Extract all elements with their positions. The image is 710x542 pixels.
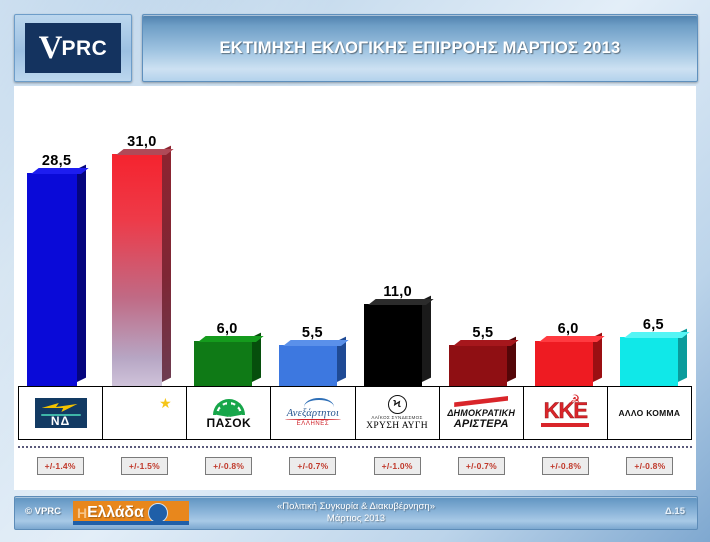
vprc-logo-prc: PRC	[62, 38, 108, 59]
bar-top	[368, 299, 434, 305]
anel-label-sub: ΕΛΛΗΝΕΣ	[297, 421, 330, 427]
margin-of-error-cell: +/-0.7%	[271, 454, 355, 478]
bar-3d	[449, 345, 507, 386]
bar-3d	[620, 337, 678, 386]
bar-face	[279, 345, 337, 386]
bar-3d	[27, 173, 77, 386]
page-title: ΕΚΤΙΜΗΣΗ ΕΚΛΟΓΙΚΗΣ ΕΠΙΡΡΟΗΣ ΜΑΡΤΙΟΣ 2013	[220, 39, 621, 58]
kke-label: ΚΚΕ	[544, 400, 587, 422]
axis-cell-anel: Ανεξάρτητοι ΕΛΛΗΝΕΣ	[271, 387, 355, 439]
bar-column: 6,0	[526, 86, 611, 386]
dimar-arrow-icon	[454, 396, 508, 407]
vprc-logo-v: V	[39, 32, 62, 65]
bar-3d	[112, 154, 162, 386]
dimar-label-bottom: ΑΡΙΣΤΕΡΑ	[454, 418, 509, 430]
bar-chart: 28,531,06,05,511,05,56,06,5	[14, 86, 696, 386]
margin-of-error-badge: +/-0.7%	[289, 457, 336, 475]
logo-pasok: ΠΑΣΟΚ	[206, 396, 252, 430]
axis-cell-xa: Ϟ ΛΑΪΚΟΣ ΣΥΝΔΕΣΜΟΣ ΧΡΥΣΗ ΑΥΓΗ	[356, 387, 440, 439]
bar-column: 5,5	[270, 86, 355, 386]
bar-face	[535, 341, 593, 386]
content-panel: 28,531,06,05,511,05,56,06,5 ΝΔ ★	[14, 86, 696, 490]
bar-top	[539, 336, 605, 342]
margin-of-error-badge: +/-1.5%	[121, 457, 168, 475]
margin-of-error-cell: +/-0.7%	[439, 454, 523, 478]
margin-of-error-badge: +/-0.8%	[626, 457, 673, 475]
margin-of-error-cell: +/-1.5%	[102, 454, 186, 478]
bar-value-label: 11,0	[383, 284, 412, 300]
bar-3d	[194, 341, 252, 386]
bar-top	[624, 332, 690, 338]
margin-of-error-badge: +/-0.8%	[205, 457, 252, 475]
logo-syriza: ★	[114, 397, 176, 429]
allo-komma-label: ΑΛΛΟ ΚΟΜΜΑ	[618, 408, 680, 418]
margin-of-error-badge: +/-1.4%	[37, 457, 84, 475]
bar-face	[27, 173, 77, 386]
bar-top	[283, 340, 349, 346]
bar-3d	[364, 304, 422, 386]
anel-rule-icon	[285, 419, 341, 420]
hammer-sickle-icon: ☭	[569, 393, 581, 406]
bar-top	[31, 168, 89, 174]
bar-face	[449, 345, 507, 386]
margin-of-error-badge: +/-1.0%	[374, 457, 421, 475]
anel-label-top: Ανεξάρτητοι	[287, 408, 339, 419]
margin-of-error-cell: +/-0.8%	[187, 454, 271, 478]
bar-value-label: 28,5	[42, 153, 71, 169]
footer-line-2: Μάρτιος 2013	[15, 513, 697, 525]
bar-top	[453, 340, 519, 346]
margin-of-error-badge: +/-0.8%	[542, 457, 589, 475]
logo-nd: ΝΔ	[35, 398, 87, 428]
bar-side	[162, 146, 171, 382]
bar-top	[116, 149, 174, 155]
slide-header: VPRC ΕΚΤΙΜΗΣΗ ΕΚΛΟΓΙΚΗΣ ΕΠΙΡΡΟΗΣ ΜΑΡΤΙΟΣ…	[14, 14, 696, 80]
margin-of-error-cell: +/-0.8%	[608, 454, 692, 478]
xa-label-main: ΧΡΥΣΗ ΑΥΓΗ	[366, 421, 428, 431]
bar-column: 5,5	[440, 86, 525, 386]
bar-column: 11,0	[355, 86, 440, 386]
pasok-sun-icon	[206, 396, 252, 415]
axis-cell-dimar: ΔΗΜΟΚΡΑΤΙΚΗ ΑΡΙΣΤΕΡΑ	[440, 387, 524, 439]
slide: VPRC ΕΚΤΙΜΗΣΗ ΕΚΛΟΓΙΚΗΣ ΕΠΙΡΡΟΗΣ ΜΑΡΤΙΟΣ…	[0, 0, 710, 542]
axis-cell-nd: ΝΔ	[19, 387, 103, 439]
nd-flash-icon	[42, 403, 78, 412]
bar-column: 28,5	[14, 86, 99, 386]
logo-anel: Ανεξάρτητοι ΕΛΛΗΝΕΣ	[285, 399, 341, 427]
logo-xrysi-avgi: Ϟ ΛΑΪΚΟΣ ΣΥΝΔΕΣΜΟΣ ΧΡΥΣΗ ΑΥΓΗ	[366, 395, 428, 432]
bar-face	[194, 341, 252, 386]
nd-logo-box: ΝΔ	[35, 398, 87, 428]
vprc-logo-inner: VPRC	[25, 23, 121, 73]
bar-side	[422, 296, 431, 382]
margin-of-error-row: +/-1.4%+/-1.5%+/-0.8%+/-0.7%+/-1.0%+/-0.…	[18, 454, 692, 478]
bar-3d	[535, 341, 593, 386]
party-axis: ΝΔ ★ ΠΑΣΟΚ	[18, 386, 692, 440]
bar-value-label: 5,5	[302, 325, 323, 341]
bar-value-label: 6,0	[558, 321, 579, 337]
bar-top	[198, 336, 264, 342]
bar-column: 6,0	[185, 86, 270, 386]
bar-side	[77, 165, 86, 382]
dotted-separator	[18, 446, 692, 448]
bar-value-label: 6,5	[643, 317, 664, 333]
vprc-logo: VPRC	[14, 14, 132, 82]
footer-center: «Πολιτική Συγκυρία & Διακυβέρνηση» Μάρτι…	[15, 501, 697, 525]
bar-value-label: 5,5	[472, 325, 493, 341]
bar-column: 6,5	[611, 86, 696, 386]
margin-of-error-cell: +/-1.4%	[18, 454, 102, 478]
nd-label: ΝΔ	[35, 415, 87, 427]
xa-label-small: ΛΑΪΚΟΣ ΣΥΝΔΕΣΜΟΣ	[371, 415, 422, 420]
bar-face	[112, 154, 162, 386]
syriza-star-icon: ★	[159, 396, 172, 410]
footer-line-1: «Πολιτική Συγκυρία & Διακυβέρνηση»	[15, 501, 697, 513]
axis-cell-pasok: ΠΑΣΟΚ	[187, 387, 271, 439]
bar-3d	[279, 345, 337, 386]
bar-face	[620, 337, 678, 386]
meander-icon: Ϟ	[388, 395, 407, 414]
margin-of-error-cell: +/-1.0%	[355, 454, 439, 478]
margin-of-error-badge: +/-0.7%	[458, 457, 505, 475]
bar-value-label: 31,0	[127, 134, 156, 150]
footer-page-number: Δ.15	[665, 506, 685, 517]
logo-dimar: ΔΗΜΟΚΡΑΤΙΚΗ ΑΡΙΣΤΕΡΑ	[447, 396, 515, 430]
title-bar: ΕΚΤΙΜΗΣΗ ΕΚΛΟΓΙΚΗΣ ΕΠΙΡΡΟΗΣ ΜΑΡΤΙΟΣ 2013	[142, 14, 698, 82]
axis-cell-allo: ΑΛΛΟ ΚΟΜΜΑ	[608, 387, 691, 439]
pasok-label: ΠΑΣΟΚ	[207, 416, 252, 430]
slide-footer: © VPRC Η Ελλάδα «Πολιτική Συγκυρία & Δια…	[14, 496, 698, 530]
anel-swoosh-icon	[304, 398, 334, 407]
kke-underline-icon	[541, 423, 589, 427]
bar-column: 31,0	[99, 86, 184, 386]
axis-cell-syriza: ★	[103, 387, 187, 439]
bar-value-label: 6,0	[217, 321, 238, 337]
dimar-label-top: ΔΗΜΟΚΡΑΤΙΚΗ	[447, 408, 515, 418]
axis-cell-kke: ☭ ΚΚΕ	[524, 387, 608, 439]
bar-face	[364, 304, 422, 386]
logo-kke: ☭ ΚΚΕ	[541, 400, 589, 427]
margin-of-error-cell: +/-0.8%	[524, 454, 608, 478]
